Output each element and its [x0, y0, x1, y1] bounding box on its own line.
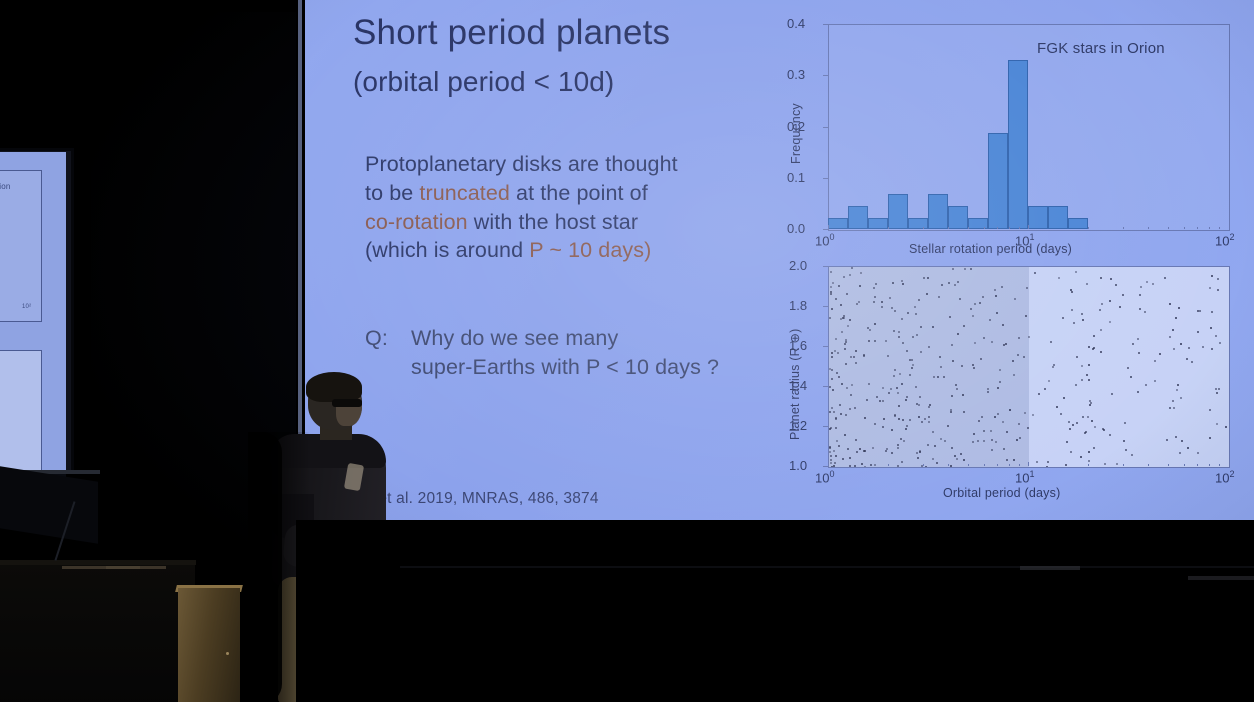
scatter-point — [963, 411, 965, 413]
chart-planet-radius-vs-period: Planet radius (R ⊕) Orbital period (days… — [775, 258, 1245, 508]
body-highlight-corotation: co-rotation — [365, 210, 468, 234]
scatter-point — [1088, 379, 1090, 381]
scatter-point — [1111, 393, 1113, 395]
scatter-point — [997, 387, 999, 389]
scatter-point — [987, 391, 989, 393]
scatter-point — [1159, 353, 1161, 355]
scatter-point — [894, 369, 896, 371]
scatter-point — [951, 344, 953, 346]
question-label: Q: — [365, 324, 411, 353]
scatter-point — [1099, 309, 1101, 311]
scatter-point — [891, 452, 893, 454]
scatter-point — [866, 399, 868, 401]
scatter-point — [1125, 449, 1127, 451]
scatter-point — [887, 355, 889, 357]
scatter-point — [874, 464, 876, 466]
scatter-ytick-label: 1.6 — [789, 338, 807, 353]
scatter-point — [833, 411, 835, 413]
av-desk-top-edge — [0, 560, 196, 565]
scatter-point — [917, 457, 919, 459]
scatter-point — [972, 364, 974, 366]
scatter-point — [875, 283, 877, 285]
scatter-point — [915, 386, 917, 388]
podium-knob — [226, 652, 229, 655]
scatter-point — [1110, 278, 1112, 280]
scatter-point — [874, 423, 876, 425]
scatter-point — [856, 303, 858, 305]
scatter-point — [1082, 319, 1084, 321]
scatter-point — [1187, 447, 1189, 449]
scatter-point — [1056, 406, 1058, 408]
scatter-point — [1091, 420, 1093, 422]
scatter-xtick-minor — [828, 462, 829, 466]
scatter-point — [1089, 404, 1091, 406]
scatter-point — [938, 296, 940, 298]
scatter-point — [928, 346, 930, 348]
scatter-point — [1152, 283, 1154, 285]
body-line-4-pre: (which is around — [365, 238, 529, 262]
scatter-point — [879, 400, 881, 402]
scatter-point — [831, 369, 833, 371]
scatter-point — [1197, 452, 1199, 454]
histogram-xtick-minor — [1019, 227, 1020, 230]
scatter-xtick-label: 101 — [1015, 469, 1034, 485]
scatter-point — [882, 387, 884, 389]
scatter-point — [1047, 461, 1049, 463]
scatter-point — [1119, 306, 1121, 308]
scatter-point — [924, 418, 926, 420]
scatter-point — [882, 400, 884, 402]
scatter-point — [837, 352, 839, 354]
scatter-point — [999, 381, 1001, 383]
scatter-point — [1063, 397, 1065, 399]
scatter-point — [1216, 392, 1218, 394]
scatter-point — [831, 466, 833, 467]
scatter-point — [957, 281, 959, 283]
scatter-point — [1176, 389, 1178, 391]
scatter-point — [912, 364, 914, 366]
scatter-point — [983, 430, 985, 432]
scatter-point — [847, 448, 849, 450]
scatter-point — [844, 343, 846, 345]
scatter-point — [864, 450, 866, 452]
scatter-point — [1109, 300, 1111, 302]
scatter-point — [1076, 356, 1078, 358]
scatter-point — [830, 459, 832, 461]
scatter-ytick — [823, 346, 828, 347]
scatter-ytick-label: 1.2 — [789, 418, 807, 433]
scatter-point — [1164, 277, 1166, 279]
scatter-point — [896, 387, 898, 389]
scatter-point — [918, 299, 920, 301]
scatter-point — [838, 285, 840, 287]
scatter-xtick-minor — [968, 464, 969, 467]
scatter-point — [960, 453, 962, 455]
scatter-point — [916, 452, 918, 454]
scatter-point — [883, 418, 885, 420]
scatter-point — [831, 308, 833, 310]
scatter-point — [1072, 424, 1074, 426]
scatter-xtick-minor — [1197, 464, 1198, 467]
scatter-point — [881, 301, 883, 303]
scatter-point — [1137, 391, 1139, 393]
scatter-point — [1017, 354, 1019, 356]
scatter-point — [1052, 366, 1054, 368]
histogram-ticks — [828, 24, 1228, 229]
scatter-point — [873, 287, 875, 289]
wall-base-line — [400, 566, 1254, 568]
scatter-point — [1081, 379, 1083, 381]
screenshot-stage: Orion 10² 10² Short period planets (orbi… — [0, 0, 1254, 702]
scatter-point — [921, 421, 923, 423]
scatter-point — [1003, 344, 1005, 346]
scatter-point — [846, 387, 848, 389]
body-line-2: to be truncated at the point of — [365, 179, 678, 208]
histogram-xtick-minor — [1148, 227, 1149, 230]
scatter-xtick-minor — [923, 464, 924, 467]
scatter-point — [926, 293, 928, 295]
scatter-point — [840, 318, 842, 320]
scatter-point — [855, 362, 857, 364]
scatter-point — [1006, 431, 1008, 433]
scatter-point — [1132, 343, 1134, 345]
scatter-point — [868, 383, 870, 385]
wall-reflection-left — [1020, 566, 1080, 570]
scatter-point — [1093, 347, 1095, 349]
scatter-point — [1140, 286, 1142, 288]
scatter-point — [1130, 376, 1132, 378]
scatter-point — [977, 440, 979, 442]
scatter-point — [907, 312, 909, 314]
presenter-glasses — [332, 399, 362, 407]
scatter-point — [1086, 283, 1088, 285]
scatter-point — [849, 465, 851, 467]
scatter-point — [927, 444, 929, 446]
scatter-point — [838, 376, 840, 378]
histogram-xtick-label: 102 — [1215, 232, 1234, 248]
scatter-point — [845, 414, 847, 416]
scatter-point — [915, 313, 917, 315]
scatter-point — [1172, 329, 1174, 331]
scatter-point — [1211, 311, 1213, 313]
scatter-point — [856, 451, 858, 453]
scatter-point — [859, 285, 861, 287]
scatter-point — [989, 319, 991, 321]
scatter-point — [1024, 412, 1026, 414]
scatter-point — [1013, 459, 1015, 461]
scatter-point — [1179, 452, 1181, 454]
scatter-point — [1013, 374, 1015, 376]
slide-subtitle: (orbital period < 10d) — [353, 66, 614, 98]
scatter-point — [897, 444, 899, 446]
scatter-point — [933, 376, 935, 378]
scatter-point — [831, 356, 833, 358]
scatter-point — [932, 326, 934, 328]
scatter-point — [1002, 421, 1004, 423]
scatter-point — [1173, 407, 1175, 409]
scatter-point — [1109, 434, 1111, 436]
scatter-point — [1081, 365, 1083, 367]
scatter-point — [1199, 310, 1201, 312]
scatter-point — [948, 282, 950, 284]
scatter-point — [1197, 331, 1199, 333]
scatter-xlabel: Orbital period (days) — [943, 486, 1060, 500]
scatter-point — [951, 447, 953, 449]
scatter-point — [1093, 335, 1095, 337]
scatter-point — [841, 383, 843, 385]
scatter-point — [1191, 361, 1193, 363]
scatter-point — [1209, 287, 1211, 289]
scatter-point — [972, 315, 974, 317]
scatter-point — [842, 458, 844, 460]
scatter-point — [906, 350, 908, 352]
scatter-point — [1104, 463, 1106, 465]
scatter-point — [833, 465, 835, 467]
scatter-point — [869, 329, 871, 331]
histogram-xtick-minor — [997, 227, 998, 230]
scatter-point — [952, 360, 954, 362]
scatter-point — [1217, 278, 1219, 280]
body-line-2-pre: to be — [365, 181, 419, 205]
scatter-point — [831, 378, 833, 380]
scatter-point — [836, 440, 838, 442]
scatter-point — [903, 440, 905, 442]
scatter-point — [850, 394, 852, 396]
scatter-xtick-minor — [1168, 464, 1169, 467]
scatter-point — [829, 428, 831, 430]
scatter-point — [1100, 351, 1102, 353]
histogram-xtick-minor — [888, 227, 889, 230]
histogram-ylabel: Frequency — [789, 103, 803, 164]
scatter-point — [835, 427, 837, 429]
scatter-point — [959, 298, 961, 300]
scatter-point — [995, 441, 997, 443]
scatter-point — [898, 418, 900, 420]
scatter-point — [909, 374, 911, 376]
scatter-point — [889, 297, 891, 299]
body-line-3-post: with the host star — [468, 210, 638, 234]
monitor-bezel — [0, 148, 74, 474]
scatter-point — [1018, 337, 1020, 339]
scatter-point — [1070, 451, 1072, 453]
scatter-plot-frame — [828, 266, 1230, 468]
scatter-xtick-label: 102 — [1215, 469, 1234, 485]
scatter-point — [1169, 303, 1171, 305]
scatter-point — [1173, 348, 1175, 350]
scatter-point — [994, 416, 996, 418]
histogram-ytick — [823, 229, 828, 230]
scatter-point — [853, 356, 855, 358]
histogram-xtick-minor — [1184, 227, 1185, 230]
scatter-point — [1124, 422, 1126, 424]
scatter-point — [838, 445, 840, 447]
scatter-point — [829, 451, 831, 453]
scatter-point — [1137, 338, 1139, 340]
scatter-point — [1073, 322, 1075, 324]
scatter-xtick-minor — [1009, 464, 1010, 467]
scatter-point — [1186, 358, 1188, 360]
scatter-point — [858, 301, 860, 303]
scatter-point — [834, 350, 836, 352]
histogram-xtick-minor — [1197, 227, 1198, 230]
body-highlight-truncated: truncated — [419, 181, 510, 205]
scatter-point — [1009, 409, 1011, 411]
histogram-ytick-label: 0.2 — [787, 119, 805, 134]
scatter-point — [1002, 324, 1004, 326]
slide-body-text: Protoplanetary disks are thought to be t… — [365, 150, 678, 265]
scatter-point — [1034, 272, 1036, 274]
body-line-1: Protoplanetary disks are thought — [365, 150, 678, 179]
scatter-point — [859, 448, 861, 450]
scatter-point — [1087, 416, 1089, 418]
scatter-point — [1005, 343, 1007, 345]
scatter-point — [920, 326, 922, 328]
scatter-point — [1175, 436, 1177, 438]
scatter-xtick-minor — [948, 464, 949, 467]
scatter-point — [901, 280, 903, 282]
scatter-ytick — [823, 306, 828, 307]
scatter-point — [934, 445, 936, 447]
scatter-point — [941, 284, 943, 286]
scatter-point — [860, 272, 862, 274]
scatter-point — [1215, 388, 1217, 390]
scatter-point — [898, 331, 900, 333]
scatter-point — [1093, 447, 1095, 449]
scatter-point — [830, 293, 832, 295]
scatter-point — [1001, 286, 1003, 288]
scatter-point — [1209, 409, 1211, 411]
scatter-point — [970, 268, 972, 270]
scatter-point — [974, 303, 976, 305]
histogram-xtick-minor — [968, 227, 969, 230]
scatter-point — [1122, 294, 1124, 296]
scatter-point — [845, 363, 847, 365]
scatter-point — [1218, 388, 1220, 390]
slide-title: Short period planets — [353, 15, 670, 51]
scatter-point — [1088, 460, 1090, 462]
presentation-slide: Short period planets (orbital period < 1… — [305, 0, 1254, 520]
scatter-point — [851, 384, 853, 386]
scatter-point — [1210, 327, 1212, 329]
scatter-point — [830, 271, 832, 273]
question-text-line-1: Why do we see many — [411, 326, 618, 350]
scatter-point — [1225, 426, 1227, 428]
scatter-point — [1217, 289, 1219, 291]
scatter-point — [1075, 384, 1077, 386]
histogram-xtick-minor — [1088, 227, 1089, 230]
scatter-point — [954, 284, 956, 286]
scatter-point — [854, 407, 856, 409]
scatter-ytick-label: 1.0 — [789, 458, 807, 473]
scatter-point — [833, 450, 835, 452]
scatter-point — [936, 462, 938, 464]
scatter-point — [832, 282, 834, 284]
scatter-point — [1209, 437, 1211, 439]
scatter-point — [964, 268, 966, 270]
scatter-point — [874, 340, 876, 342]
scatter-point — [961, 365, 963, 367]
scatter-point — [927, 277, 929, 279]
slide-citation: a et al. 2019, MNRAS, 486, 3874 — [365, 490, 599, 508]
scatter-ytick-label: 1.8 — [789, 298, 807, 313]
scatter-xtick-label: 100 — [815, 469, 834, 485]
histogram-xtick-minor — [1219, 227, 1220, 230]
scatter-point — [836, 372, 838, 374]
scatter-point — [919, 451, 921, 453]
scatter-point — [829, 411, 831, 413]
scatter-point — [970, 308, 972, 310]
scatter-point — [893, 330, 895, 332]
scatter-point — [906, 396, 908, 398]
histogram-xlabel: Stellar rotation period (days) — [909, 242, 1072, 256]
scatter-point — [973, 433, 975, 435]
scatter-points — [829, 267, 1229, 467]
histogram-ytick — [823, 24, 828, 25]
scatter-point — [909, 419, 911, 421]
scatter-point — [1019, 437, 1021, 439]
scatter-point — [876, 396, 878, 398]
scatter-point — [897, 392, 899, 394]
podium — [178, 588, 240, 702]
scatter-point — [844, 348, 846, 350]
scatter-point — [885, 340, 887, 342]
scatter-point — [1060, 413, 1062, 415]
scatter-point — [912, 336, 914, 338]
scatter-point — [902, 342, 904, 344]
scatter-point — [1216, 423, 1218, 425]
scatter-point — [955, 384, 957, 386]
scatter-point — [928, 421, 930, 423]
histogram-xtick-minor — [948, 227, 949, 230]
scatter-point — [963, 459, 965, 461]
scatter-point — [932, 458, 934, 460]
scatter-point — [1046, 466, 1048, 467]
scatter-point — [1180, 343, 1182, 345]
scatter-point — [854, 465, 856, 467]
scatter-point — [1048, 380, 1050, 382]
histogram-ytick-label: 0.1 — [787, 170, 805, 185]
scatter-point — [994, 289, 996, 291]
scatter-ytick-label: 1.4 — [789, 378, 807, 393]
scatter-point — [1131, 454, 1133, 456]
scatter-point — [1181, 440, 1183, 442]
scatter-point — [956, 458, 958, 460]
scatter-point — [902, 283, 904, 285]
scatter-point — [1027, 427, 1029, 429]
scatter-point — [873, 301, 875, 303]
scatter-point — [892, 282, 894, 284]
scatter-point — [905, 428, 907, 430]
scatter-point — [1081, 313, 1083, 315]
scatter-point — [1166, 439, 1168, 441]
scatter-point — [928, 406, 930, 408]
scatter-point — [1076, 422, 1078, 424]
scatter-point — [974, 342, 976, 344]
scatter-point — [891, 307, 893, 309]
scatter-point — [1169, 407, 1171, 409]
scatter-point — [849, 408, 851, 410]
scatter-point — [1032, 414, 1034, 416]
scatter-point — [864, 466, 866, 467]
scatter-point — [1109, 321, 1111, 323]
scatter-point — [850, 356, 852, 358]
scatter-point — [1065, 464, 1067, 466]
histogram-xtick-minor — [984, 227, 985, 230]
scatter-point — [1188, 347, 1190, 349]
scatter-point — [919, 396, 921, 398]
scatter-point — [1177, 384, 1179, 386]
scatter-point — [1050, 341, 1052, 343]
